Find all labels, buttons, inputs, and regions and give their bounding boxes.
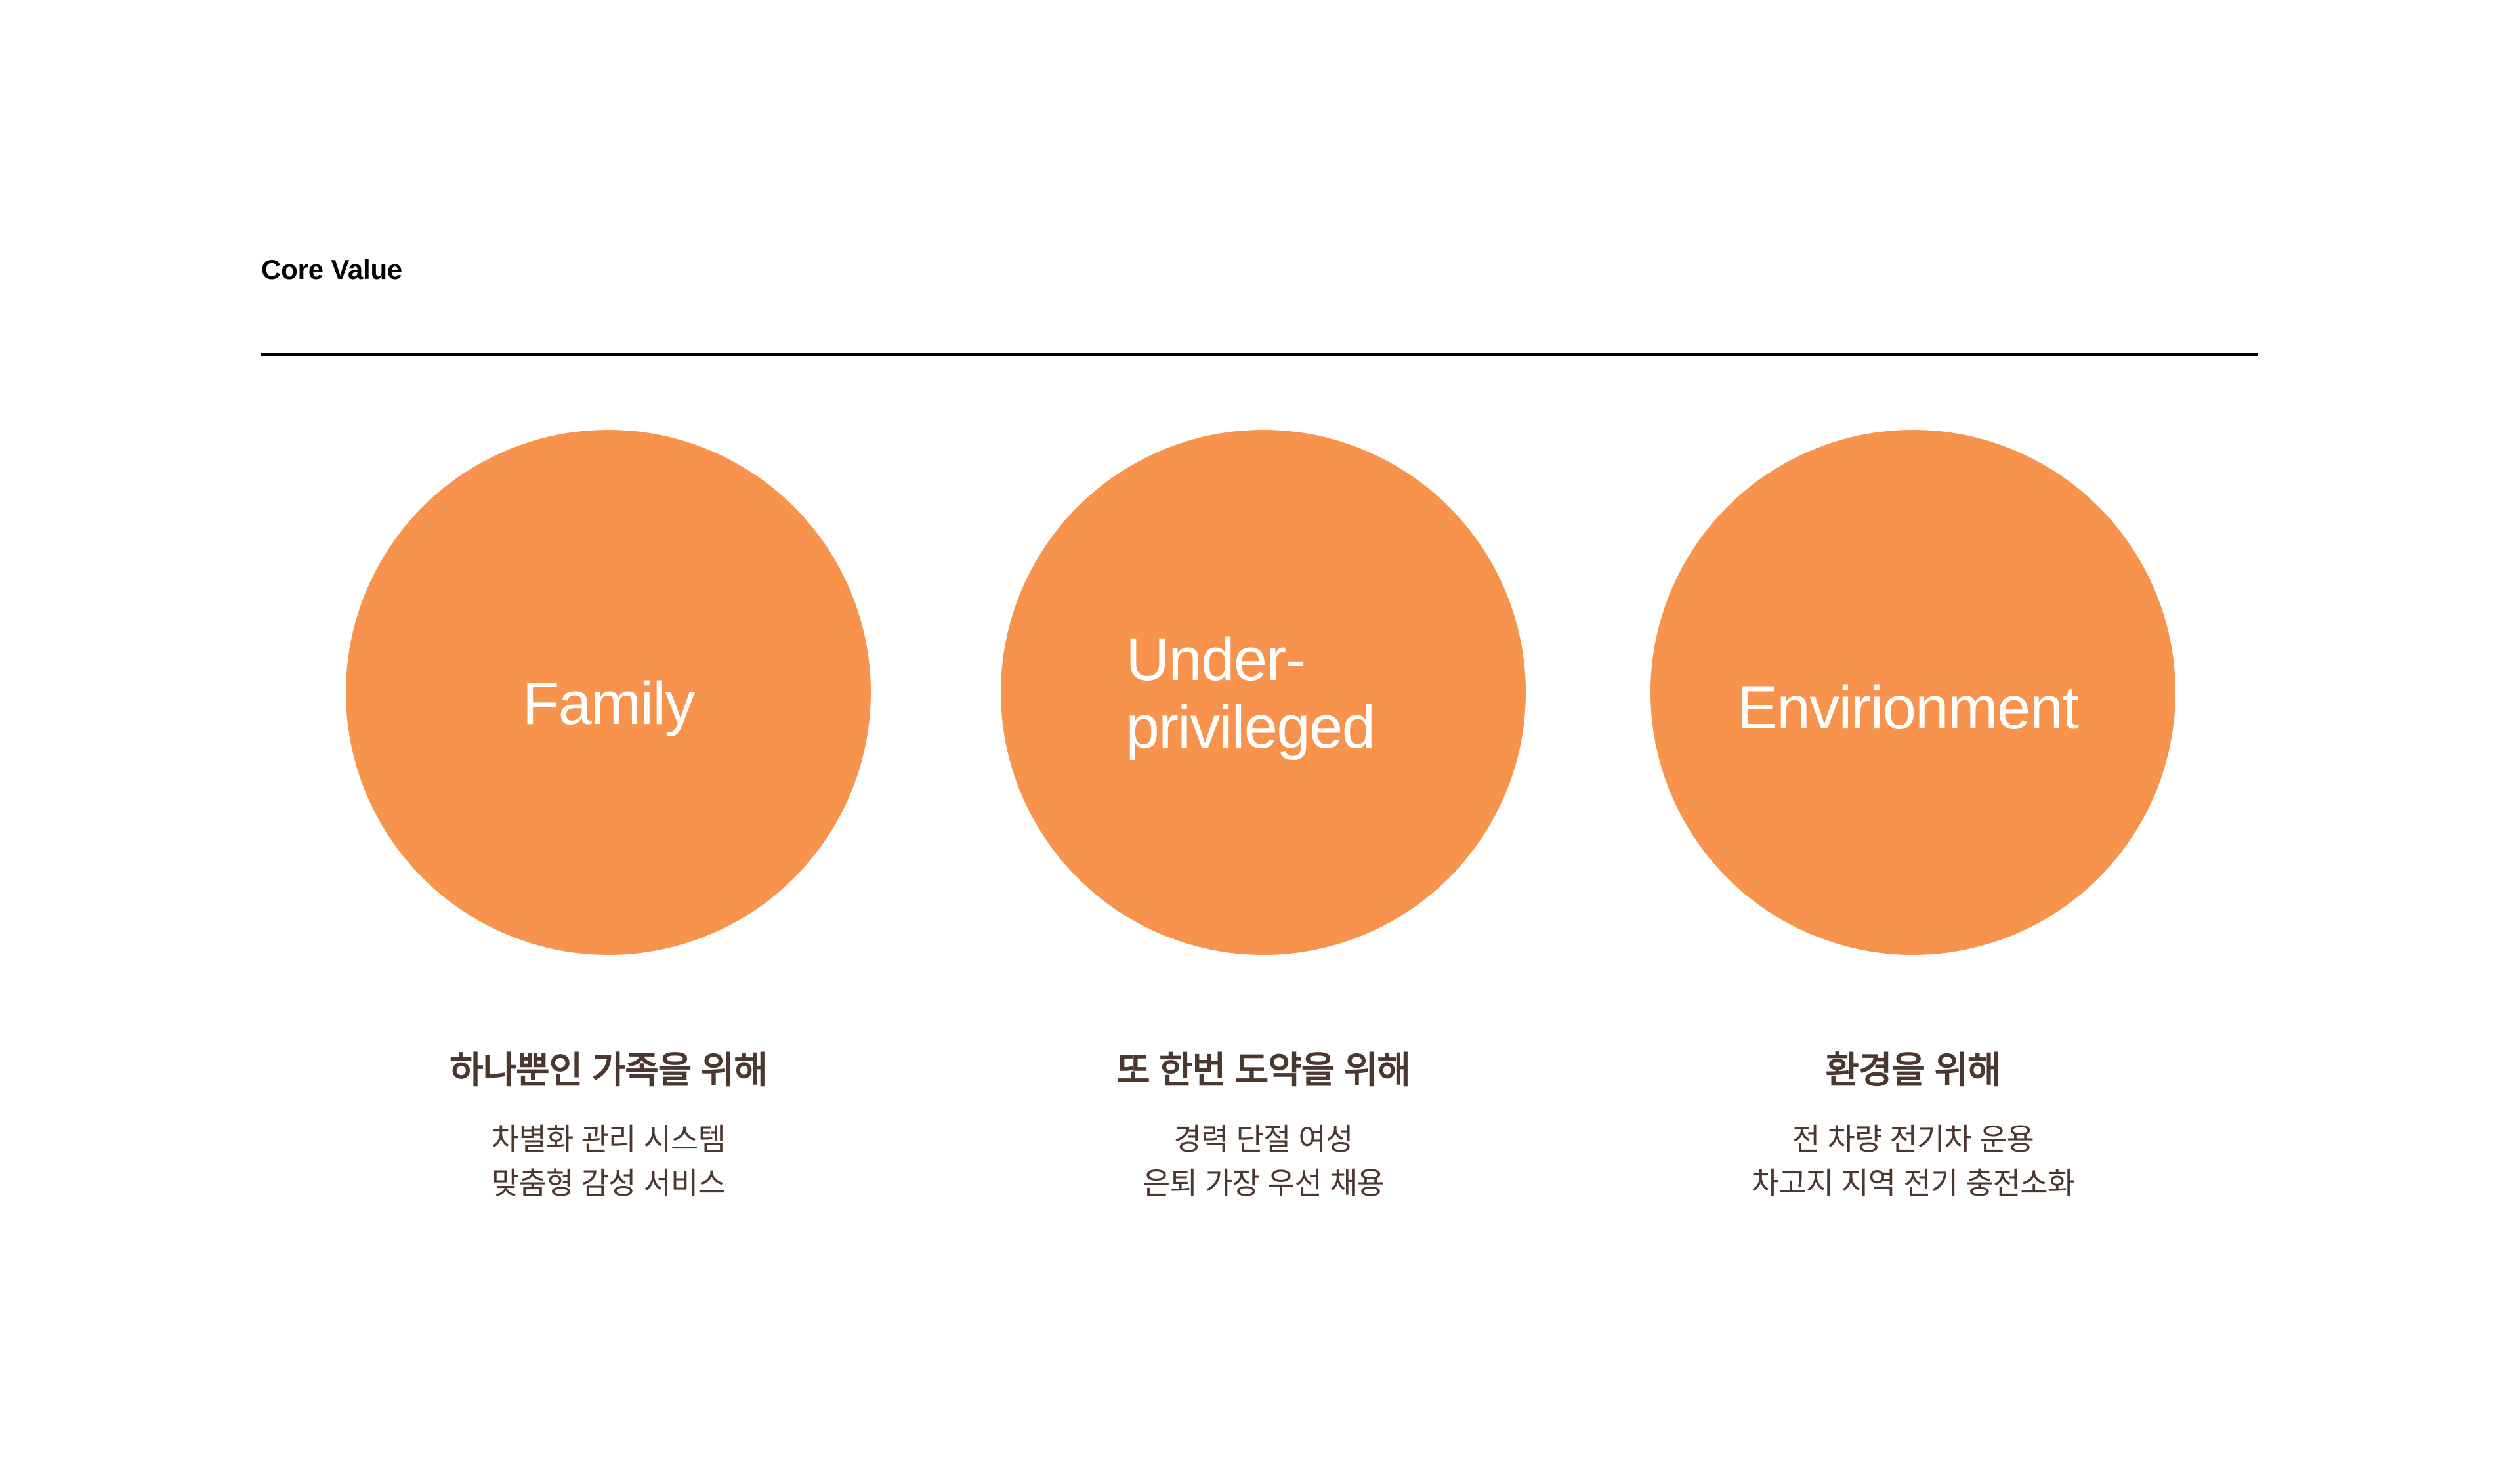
value-circle-environment[interactable]: Envirionment: [1650, 430, 2175, 955]
value-circle-family[interactable]: Family: [346, 430, 871, 955]
value-column-environment: Envirionment 환경을 위해 전 차량 전기차 운용 차고지 지역 전…: [1650, 430, 2175, 1206]
value-caption-environment: 환경을 위해 전 차량 전기차 운용 차고지 지역 전기 충전소화: [1650, 1049, 2175, 1206]
value-caption-line: 차별화 관리 시스템: [346, 1118, 871, 1162]
value-caption-line: 차고지 지역 전기 충전소화: [1650, 1162, 2175, 1206]
value-caption-family: 하나뿐인 가족을 위해 차별화 관리 시스템 맞춤형 감성 서비스: [346, 1049, 871, 1206]
value-caption-line: 은퇴 가장 우선 채용: [1001, 1162, 1526, 1206]
value-caption-line: 전 차량 전기차 운용: [1650, 1118, 2175, 1162]
slide-header: Core Value: [261, 255, 2257, 285]
value-caption-line: 경력 단절 여성: [1001, 1118, 1526, 1162]
value-caption-heading: 환경을 위해: [1650, 1049, 2175, 1091]
value-caption-lines: 차별화 관리 시스템 맞춤형 감성 서비스: [346, 1118, 871, 1205]
value-circle-underprivileged[interactable]: Under- privileged: [1001, 430, 1526, 955]
value-caption-heading: 하나뿐인 가족을 위해: [346, 1049, 871, 1091]
value-caption-underprivileged: 또 한번 도약을 위해 경력 단절 여성 은퇴 가장 우선 채용: [1001, 1049, 1526, 1206]
value-circle-label: Family: [522, 670, 694, 738]
value-caption-lines: 경력 단절 여성 은퇴 가장 우선 채용: [1001, 1118, 1526, 1205]
header-divider: [261, 353, 2257, 356]
value-circle-label: Envirionment: [1738, 675, 2078, 742]
value-column-underprivileged: Under- privileged 또 한번 도약을 위해 경력 단절 여성 은…: [1001, 430, 1526, 1206]
value-caption-heading: 또 한번 도약을 위해: [1001, 1049, 1526, 1091]
value-caption-lines: 전 차량 전기차 운용 차고지 지역 전기 충전소화: [1650, 1118, 2175, 1205]
page-title: Core Value: [261, 255, 2257, 285]
value-column-family: Family 하나뿐인 가족을 위해 차별화 관리 시스템 맞춤형 감성 서비스: [346, 430, 871, 1206]
core-value-columns: Family 하나뿐인 가족을 위해 차별화 관리 시스템 맞춤형 감성 서비스…: [0, 430, 2520, 1283]
value-caption-line: 맞춤형 감성 서비스: [346, 1162, 871, 1206]
value-circle-label: Under- privileged: [1126, 626, 1375, 761]
